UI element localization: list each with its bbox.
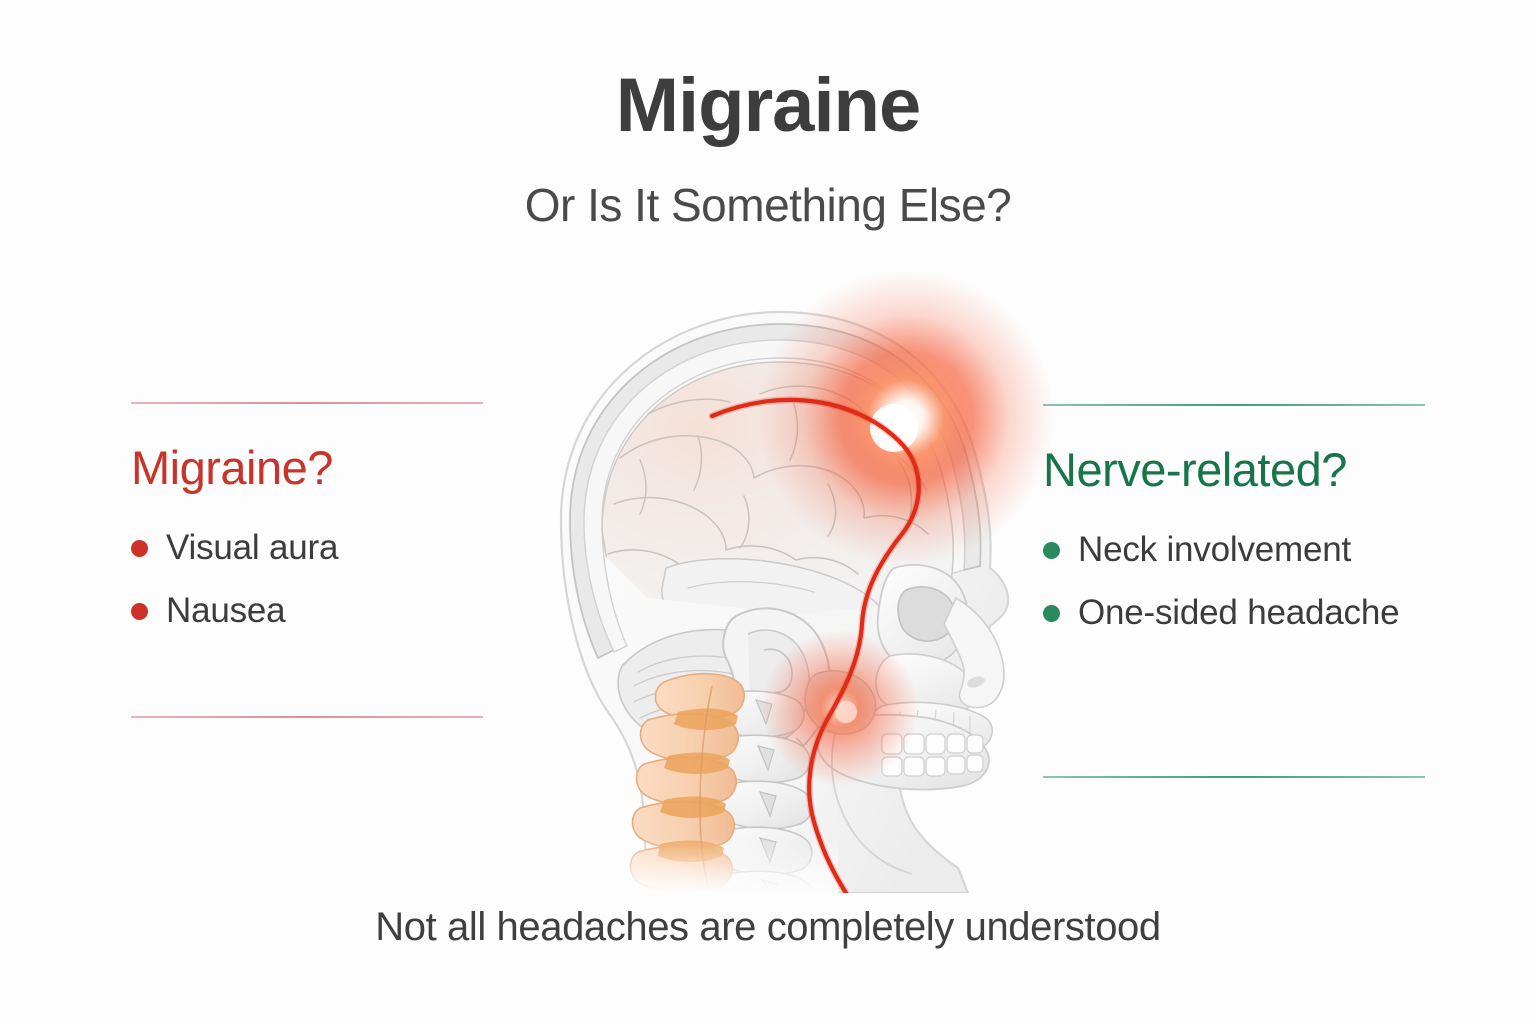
page-subtitle: Or Is It Something Else?	[0, 144, 1536, 228]
panel-left-top-divider	[131, 402, 483, 404]
panel-right-symptom-list: Neck involvement One-sided headache	[1043, 529, 1425, 634]
panel-nerve-related: Nerve-related? Neck involvement One-side…	[1043, 404, 1425, 656]
panel-migraine: Migraine? Visual aura Nausea	[131, 402, 483, 654]
panel-right-heading: Nerve-related?	[1043, 446, 1425, 493]
list-item: Neck involvement	[1043, 529, 1425, 570]
pain-glow-temple	[758, 270, 1054, 566]
panel-right-bottom-divider	[1043, 776, 1425, 778]
list-item: Nausea	[131, 590, 483, 631]
panel-left-heading: Migraine?	[131, 444, 483, 491]
list-item-label: One-sided headache	[1078, 592, 1399, 633]
footer-caption: Not all headaches are completely underst…	[0, 905, 1536, 950]
infographic-header: Migraine Or Is It Something Else?	[0, 0, 1536, 228]
list-item-label: Visual aura	[166, 527, 338, 568]
panel-left-symptom-list: Visual aura Nausea	[131, 527, 483, 632]
bullet-dot-icon	[131, 540, 148, 557]
page-title: Migraine	[0, 0, 1536, 144]
pain-glow-jaw	[762, 630, 918, 786]
panel-left-bottom-divider	[131, 716, 483, 718]
list-item-label: Neck involvement	[1078, 529, 1351, 570]
panel-right-top-divider	[1043, 404, 1425, 406]
list-item: One-sided headache	[1043, 592, 1425, 633]
list-item-label: Nausea	[166, 590, 285, 631]
bullet-dot-icon	[131, 603, 148, 620]
lateral-head-anatomy-diagram	[498, 268, 1078, 893]
list-item: Visual aura	[131, 527, 483, 568]
